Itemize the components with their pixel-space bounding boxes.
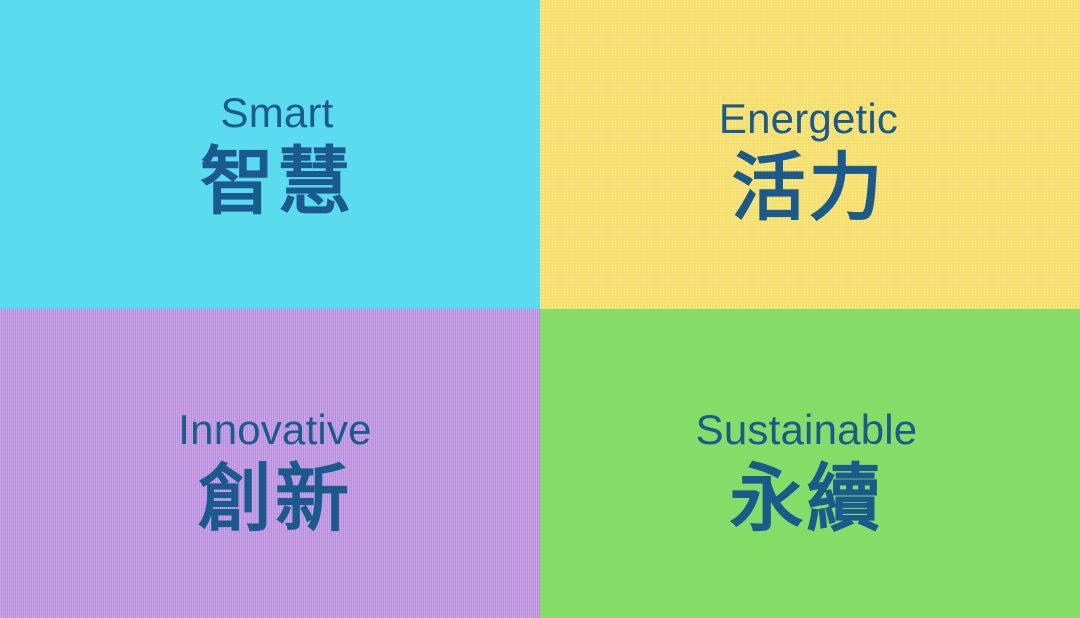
panel-energetic-textblock: Energetic 活力	[719, 98, 898, 227]
panel-smart-textblock: Smart 智慧	[200, 92, 354, 221]
panel-innovative-textblock: Innovative 創新	[178, 409, 371, 538]
panel-energetic-english-label: Energetic	[719, 98, 898, 140]
panel-sustainable[interactable]: Sustainable 永續	[540, 309, 1080, 618]
panel-innovative[interactable]: Innovative 創新	[0, 309, 540, 618]
panel-grid: Smart 智慧 Energetic 活力 Innovative 創新 Sust…	[0, 0, 1080, 618]
panel-smart-english-label: Smart	[220, 92, 333, 134]
panel-sustainable-english-label: Sustainable	[696, 409, 918, 451]
panel-energetic-chinese-label: 活力	[731, 149, 885, 227]
panel-innovative-chinese-label: 創新	[198, 460, 352, 538]
panel-sustainable-textblock: Sustainable 永續	[696, 409, 918, 538]
panel-energetic[interactable]: Energetic 活力	[540, 0, 1080, 309]
brand-values-poster: Smart 智慧 Energetic 活力 Innovative 創新 Sust…	[0, 0, 1080, 618]
panel-innovative-english-label: Innovative	[178, 409, 371, 451]
panel-sustainable-chinese-label: 永續	[729, 460, 883, 538]
panel-smart-chinese-label: 智慧	[200, 143, 354, 221]
panel-smart[interactable]: Smart 智慧	[0, 0, 540, 309]
